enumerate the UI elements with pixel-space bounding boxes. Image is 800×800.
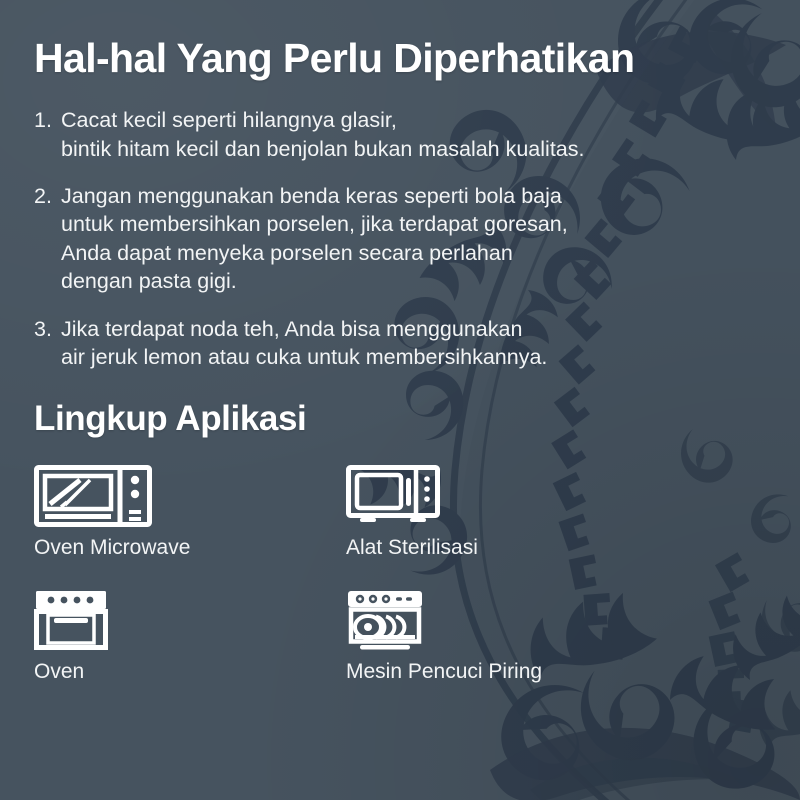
list-item-body: Cacat kecil seperti hilangnya glasir, bi… bbox=[61, 106, 766, 163]
app-item-microwave-oven: Oven Microwave bbox=[34, 465, 346, 559]
sterilizer-icon bbox=[346, 465, 766, 527]
app-item-oven: Oven bbox=[34, 589, 346, 683]
application-scope-grid: Oven Microwave bbox=[34, 465, 766, 683]
list-item-number: 3. bbox=[34, 315, 61, 372]
list-item-line: Anda dapat menyeka porselen secara perla… bbox=[61, 239, 766, 267]
list-item-line: dengan pasta gigi. bbox=[61, 267, 766, 295]
oven-icon bbox=[34, 589, 346, 651]
list-item-line: Cacat kecil seperti hilangnya glasir, bbox=[61, 106, 766, 134]
list-item-body: Jangan menggunakan benda keras seperti b… bbox=[61, 182, 766, 296]
notes-list: 1. Cacat kecil seperti hilangnya glasir,… bbox=[34, 106, 766, 371]
list-item-number: 2. bbox=[34, 182, 61, 296]
list-item: 2. Jangan menggunakan benda keras sepert… bbox=[34, 182, 766, 296]
list-item-line: Jika terdapat noda teh, Anda bisa menggu… bbox=[61, 315, 766, 343]
notes-section-title: Hal-hal Yang Perlu Diperhatikan bbox=[34, 36, 766, 80]
app-item-label: Oven Microwave bbox=[34, 536, 346, 559]
list-item: 1. Cacat kecil seperti hilangnya glasir,… bbox=[34, 106, 766, 163]
list-item-line: Jangan menggunakan benda keras seperti b… bbox=[61, 182, 766, 210]
app-item-label: Oven bbox=[34, 660, 346, 683]
list-item-body: Jika terdapat noda teh, Anda bisa menggu… bbox=[61, 315, 766, 372]
poster-content: Hal-hal Yang Perlu Diperhatikan 1. Cacat… bbox=[0, 0, 800, 800]
list-item-line: untuk membersihkan porselen, jika terdap… bbox=[61, 210, 766, 238]
app-item-dishwasher: Mesin Pencuci Piring bbox=[346, 589, 766, 683]
app-item-label: Mesin Pencuci Piring bbox=[346, 660, 766, 683]
scope-section-title: Lingkup Aplikasi bbox=[34, 399, 766, 439]
app-item-label: Alat Sterilisasi bbox=[346, 536, 766, 559]
dishwasher-icon bbox=[346, 589, 766, 651]
app-item-sterilizer: Alat Sterilisasi bbox=[346, 465, 766, 559]
list-item-line: bintik hitam kecil dan benjolan bukan ma… bbox=[61, 135, 766, 163]
list-item-number: 1. bbox=[34, 106, 61, 163]
list-item: 3. Jika terdapat noda teh, Anda bisa men… bbox=[34, 315, 766, 372]
microwave-oven-icon bbox=[34, 465, 346, 527]
list-item-line: air jeruk lemon atau cuka untuk membersi… bbox=[61, 343, 766, 371]
